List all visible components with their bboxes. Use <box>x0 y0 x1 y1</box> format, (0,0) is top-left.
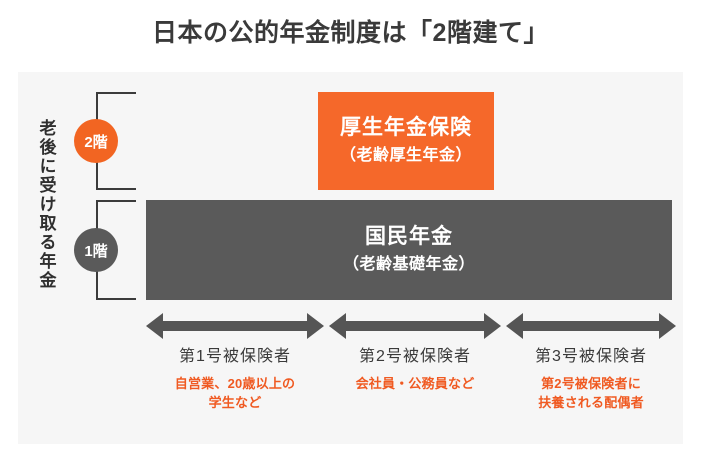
category-sub-1-line1: 自営業、20歳以上の <box>146 374 324 393</box>
category-row: 第1号被保険者 自営業、20歳以上の 学生など 第2号被保険者 会社員・公務員な… <box>146 344 676 436</box>
category-sub-3-line2: 扶養される配偶者 <box>506 393 676 412</box>
tier-box-kosei-nenkin: 厚生年金保険 （老齢厚生年金） <box>318 92 494 190</box>
category-sub-2-line1: 会社員・公務員など <box>329 374 501 393</box>
tier-box-kokumin-nenkin: 国民年金 （老齢基礎年金） <box>146 200 672 300</box>
category-sub-2: 会社員・公務員など <box>329 374 501 393</box>
category-insured-type-2: 第2号被保険者 会社員・公務員など <box>329 344 501 393</box>
diagram-panel: 老後に受け取る年金 2階 1階 厚生年金保険 （老齢厚生年金） 国民年金 （老齢… <box>18 72 683 444</box>
arrow-row <box>146 312 676 340</box>
tier-subtitle-kosei: （老齢厚生年金） <box>340 143 472 169</box>
category-title-1: 第1号被保険者 <box>146 344 324 370</box>
category-insured-type-3: 第3号被保険者 第2号被保険者に 扶養される配偶者 <box>506 344 676 412</box>
category-sub-1: 自営業、20歳以上の 学生など <box>146 374 324 412</box>
category-title-2: 第2号被保険者 <box>329 344 501 370</box>
category-sub-1-line2: 学生など <box>146 393 324 412</box>
arrow-range-1 <box>146 312 324 340</box>
category-sub-3: 第2号被保険者に 扶養される配偶者 <box>506 374 676 412</box>
tier-subtitle-kokumin: （老齢基礎年金） <box>343 252 475 278</box>
arrow-range-2 <box>329 312 501 340</box>
category-title-3: 第3号被保険者 <box>506 344 676 370</box>
category-insured-type-1: 第1号被保険者 自営業、20歳以上の 学生など <box>146 344 324 412</box>
vertical-axis-label: 老後に受け取る年金 <box>30 94 62 314</box>
category-sub-3-line1: 第2号被保険者に <box>506 374 676 393</box>
badge-floor-1: 1階 <box>74 228 118 272</box>
badge-floor-2: 2階 <box>74 119 118 163</box>
arrow-range-3 <box>506 312 676 340</box>
tier-title-kokumin: 国民年金 <box>365 222 453 252</box>
page-title: 日本の公的年金制度は「2階建て」 <box>0 16 701 50</box>
tier-title-kosei: 厚生年金保険 <box>340 113 472 143</box>
